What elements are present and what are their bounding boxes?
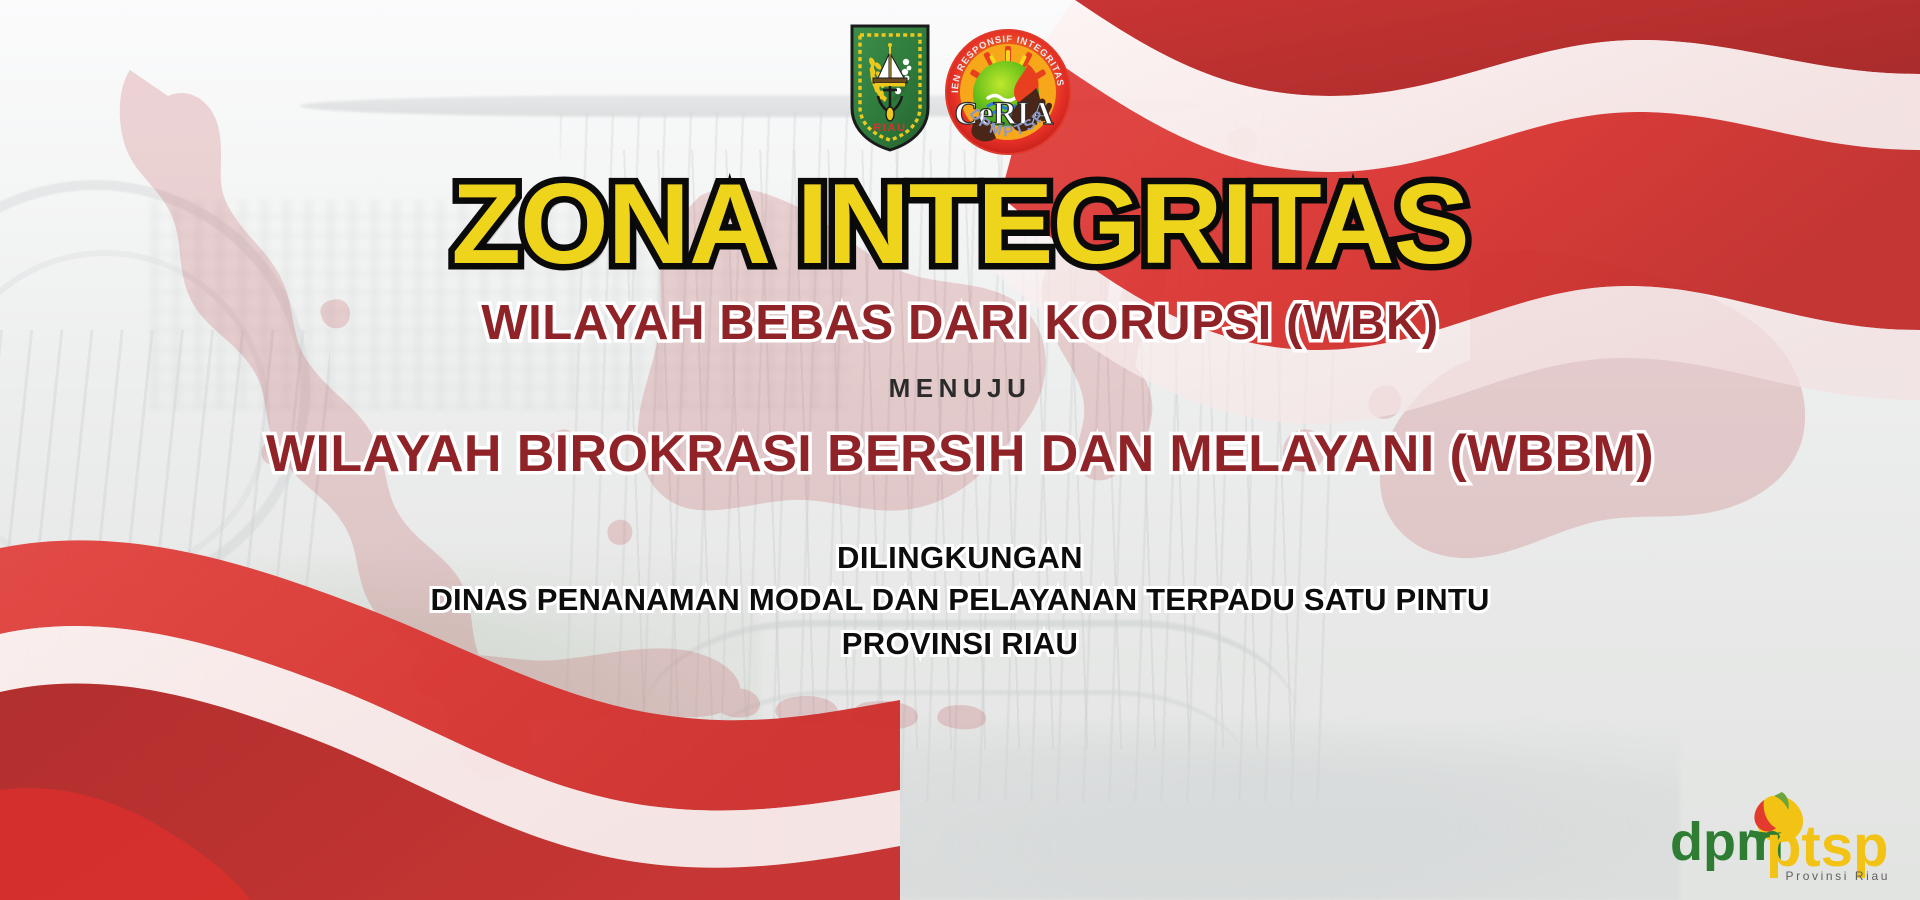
- scope-label: DILINGKUNGAN: [0, 538, 1920, 578]
- connector-label: MENUJU: [0, 375, 1920, 401]
- subtitle-wbk: WILAYAH BEBAS DARI KORUPSI (WBK): [0, 298, 1920, 349]
- riau-provincial-crest-icon: RIAU: [848, 22, 932, 154]
- dpmptsp-tagline: Provinsi Riau: [1786, 869, 1891, 882]
- zona-integritas-banner: RIAU: [0, 0, 1920, 900]
- page-title: ZONA INTEGRITAS: [0, 168, 1920, 282]
- organization-name: DINAS PENANAMAN MODAL DAN PELAYANAN TERP…: [0, 578, 1920, 622]
- organization-block: DILINGKUNGAN DINAS PENANAMAN MODAL DAN P…: [0, 538, 1920, 666]
- subtitle-wbbm: WILAYAH BIROKRASI BERSIH DAN MELAYANI (W…: [0, 427, 1920, 482]
- header-logos: RIAU: [0, 22, 1920, 156]
- organization-region: PROVINSI RIAU: [0, 622, 1920, 666]
- riau-crest-caption: RIAU: [873, 122, 906, 134]
- ceria-dpmptsp-seal-icon: CeRIA CEPAT EFISIEN RESPONSIF INTEGRITAS…: [944, 28, 1072, 156]
- dpmptsp-wordmark-logo: dpm ptsp Provinsi Riau: [1654, 786, 1898, 882]
- banner-text-block: ZONA INTEGRITAS WILAYAH BEBAS DARI KORUP…: [0, 168, 1920, 666]
